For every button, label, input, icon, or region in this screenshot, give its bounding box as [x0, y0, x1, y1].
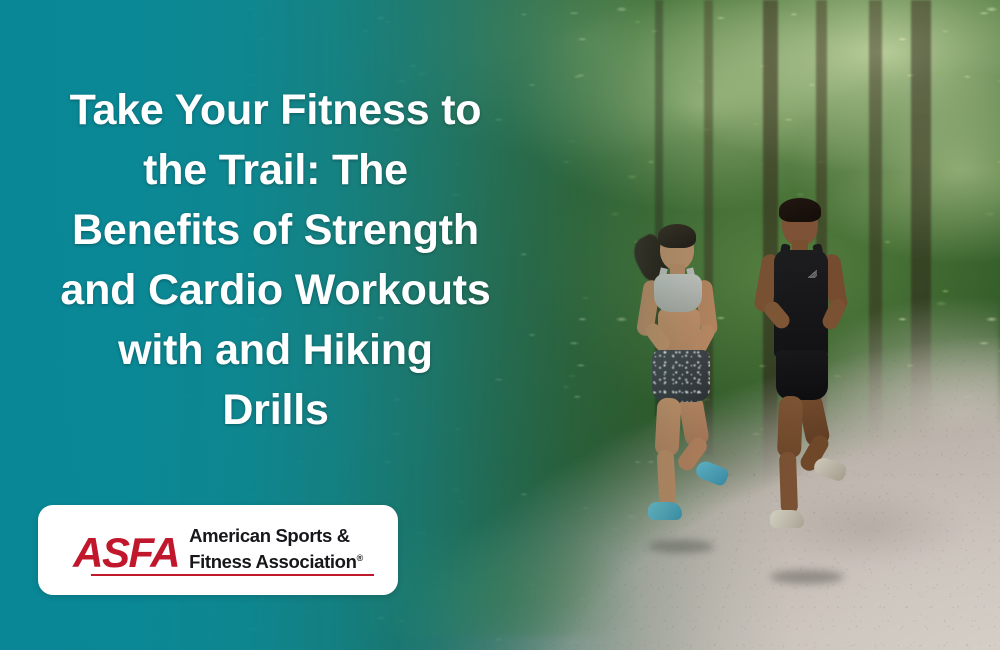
asfa-monogram-block: ASFA	[73, 533, 181, 573]
asfa-monogram: ASFA	[73, 533, 181, 573]
asfa-name-line-1: American Sports &	[189, 525, 363, 547]
asfa-name-line-2-text: Fitness Association	[189, 551, 356, 572]
asfa-full-name: American Sports & Fitness Association®	[189, 525, 363, 573]
page-title: Take Your Fitness to the Trail: The Bene…	[8, 80, 543, 440]
asfa-name-block: American Sports & Fitness Association®	[184, 525, 363, 573]
asfa-name-line-2: Fitness Association®	[189, 547, 363, 573]
asfa-logo: ASFA American Sports & Fitness Associati…	[73, 525, 363, 575]
asfa-logo-card[interactable]: ASFA American Sports & Fitness Associati…	[38, 505, 398, 595]
registered-trademark-icon: ®	[357, 553, 363, 563]
blog-hero-banner: Take Your Fitness to the Trail: The Bene…	[0, 0, 1000, 650]
asfa-underline-rule	[91, 574, 374, 577]
